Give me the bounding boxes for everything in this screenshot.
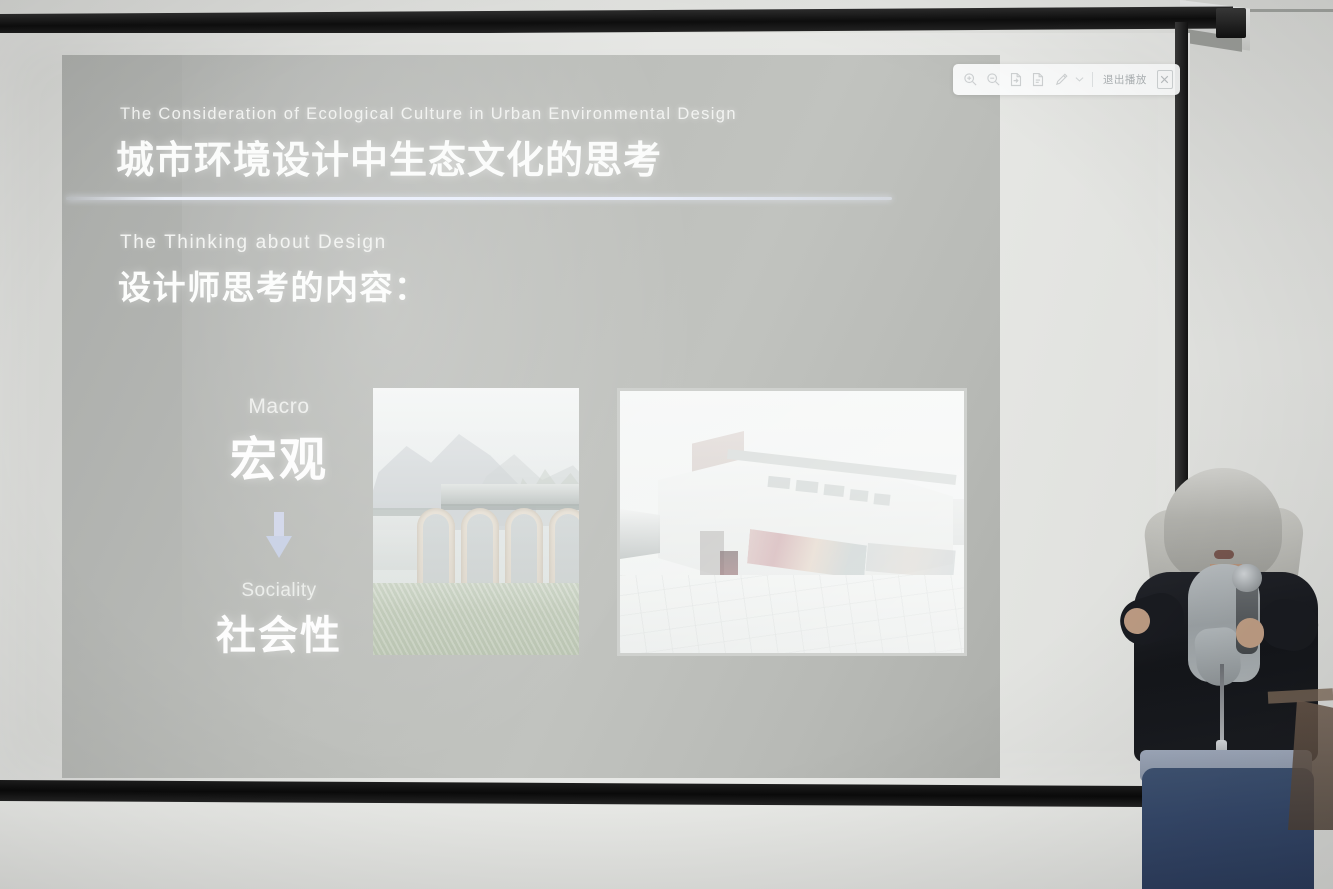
pen-icon[interactable] (1051, 68, 1072, 92)
concept-sociality-english: Sociality (184, 580, 374, 602)
photo-industrial-street (617, 388, 967, 656)
slide-subtitle-chinese: 设计师思考的内容： (118, 261, 429, 309)
screenshot-stage: The Consideration of Ecological Culture … (0, 0, 1333, 889)
presenter-hand-right (1236, 618, 1264, 648)
presenter-mouth (1214, 550, 1234, 559)
photo-arched-pavilion (373, 388, 579, 655)
slide-title-english: The Consideration of Ecological Culture … (120, 105, 737, 124)
down-arrow-icon (266, 512, 292, 560)
next-page-icon[interactable] (1028, 68, 1049, 92)
presentation-slide: The Consideration of Ecological Culture … (62, 55, 1000, 778)
slide-subtitle-english: The Thinking about Design (120, 232, 387, 254)
concept-column: Macro 宏观 Sociality 社会性 (184, 395, 374, 661)
chevron-down-icon[interactable] (1074, 68, 1086, 92)
zoom-in-icon[interactable] (960, 68, 981, 92)
toolbar-divider (1092, 72, 1093, 87)
slide-title-chinese: 城市环境设计中生态文化的思考 (116, 129, 662, 184)
exit-playback-button[interactable]: 退出播放 (1100, 72, 1150, 87)
microphone-head (1232, 564, 1262, 592)
wall-below-screen (0, 800, 1190, 889)
close-icon[interactable] (1157, 70, 1173, 89)
previous-page-icon[interactable] (1005, 68, 1026, 92)
presentation-toolbar[interactable]: 退出播放 (953, 64, 1180, 95)
title-divider-rule (66, 197, 892, 200)
concept-macro-english: Macro (184, 395, 374, 419)
zoom-out-icon[interactable] (983, 68, 1004, 92)
projection-screen-roller-cap (1216, 8, 1246, 38)
concept-sociality-chinese: 社会性 (184, 603, 374, 661)
concept-macro-chinese: 宏观 (184, 421, 374, 490)
